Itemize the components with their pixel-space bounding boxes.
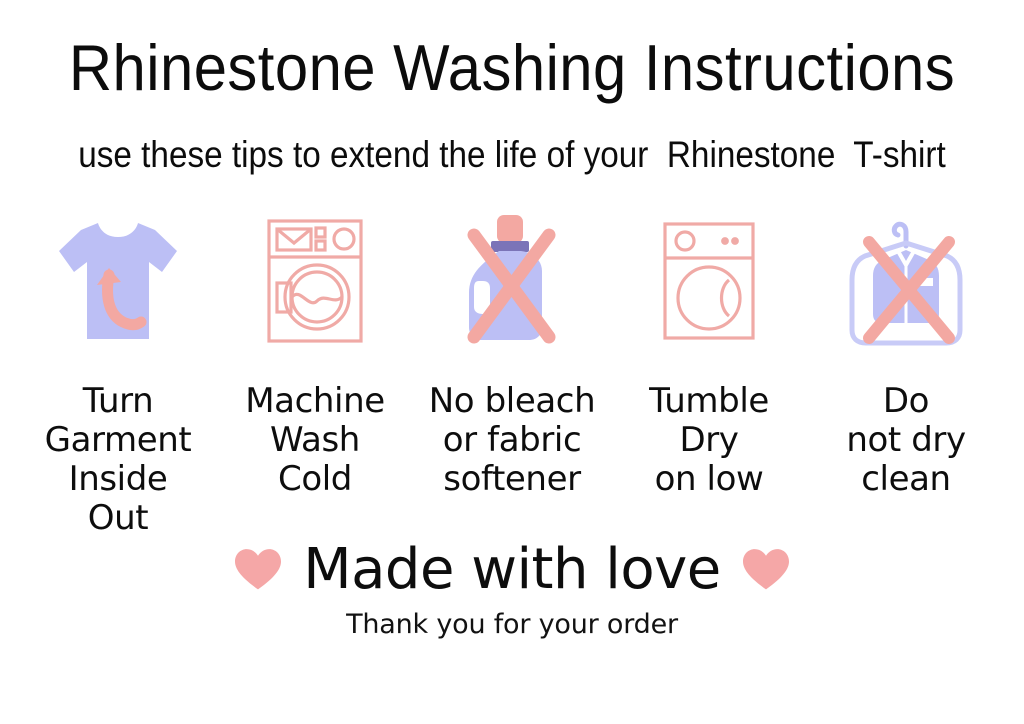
made-with-love-row: Made with love [0,538,1024,602]
no-dry-clean-icon [843,206,969,356]
no-bleach-bottle-icon [453,206,571,356]
step-turn-inside-out: Turn Garment Inside Out [22,206,214,538]
thank-you-text: Thank you for your order [0,608,1024,642]
tumble-dryer-icon [659,206,759,356]
heart-icon [235,547,281,593]
step-label: Machine Wash Cold [245,382,385,499]
step-machine-wash-cold: Machine Wash Cold [219,206,411,499]
step-label: No bleach or fabric softener [429,382,595,499]
made-with-love-text: Made with love [303,538,720,602]
step-label: Do not dry clean [846,382,965,499]
page-subtitle: use these tips to extend the life of you… [51,132,973,178]
step-label: Turn Garment Inside Out [45,382,192,538]
page-title: Rhinestone Washing Instructions [41,30,983,106]
washing-machine-icon [265,206,365,356]
step-tumble-dry-low: Tumble Dry on low [613,206,805,499]
tshirt-inside-out-icon [57,206,179,356]
step-label: Tumble Dry on low [649,382,769,499]
heart-icon [743,547,789,593]
care-steps-row: Turn Garment Inside Out [0,206,1024,538]
washing-instructions-card: Rhinestone Washing Instructions use thes… [0,0,1024,724]
step-do-not-dry-clean: Do not dry clean [810,206,1002,499]
step-no-bleach: No bleach or fabric softener [416,206,608,499]
